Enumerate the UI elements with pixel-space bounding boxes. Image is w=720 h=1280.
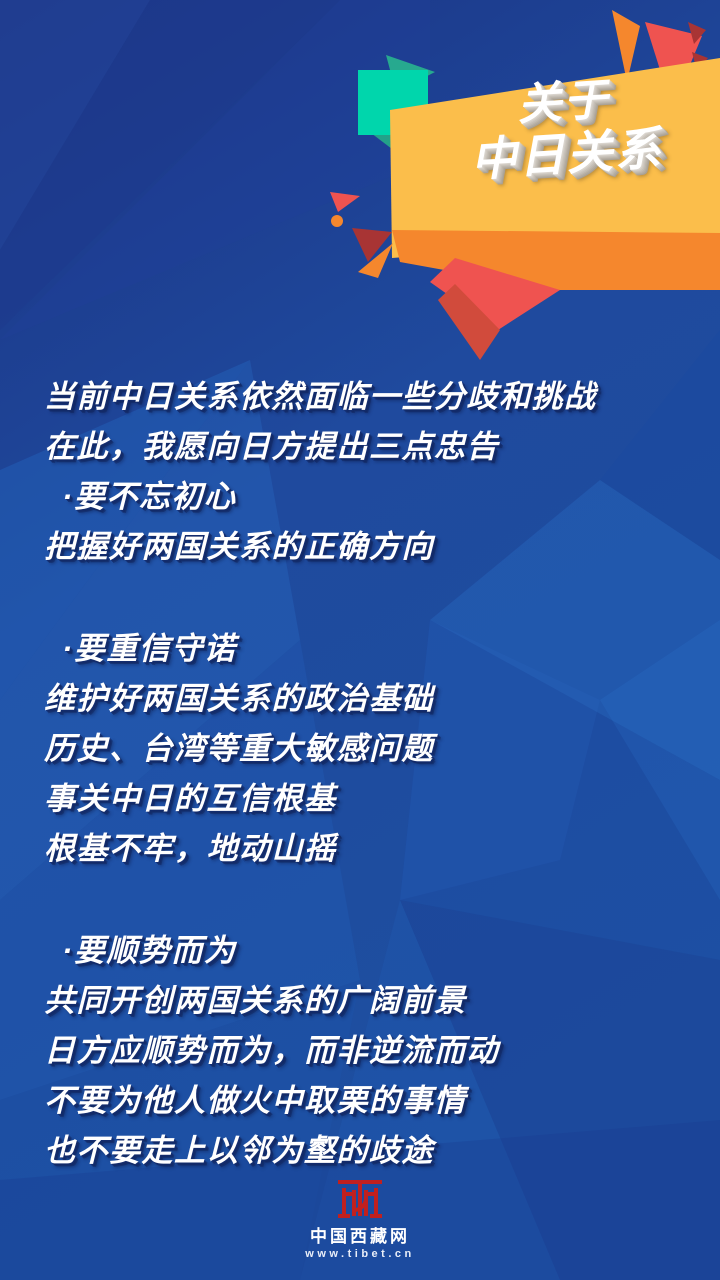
text-line: 把握好两国关系的正确方向	[0, 522, 720, 572]
site-url: www.tibet.cn	[0, 1248, 720, 1260]
text-line: 根基不牢，地动山摇	[0, 824, 720, 874]
banner-title: 关于 中日关系	[427, 70, 703, 190]
text-line: 在此，我愿向日方提出三点忠告	[0, 422, 720, 472]
text-line-bullet: ·要顺势而为	[0, 926, 720, 976]
text-line: 维护好两国关系的政治基础	[0, 674, 720, 724]
text-line: 共同开创两国关系的广阔前景	[0, 976, 720, 1026]
site-name: 中国西藏网	[0, 1226, 720, 1247]
tibet-seal-icon	[332, 1176, 388, 1222]
paragraph-3: ·要顺势而为 共同开创两国关系的广阔前景 日方应顺势而为，而非逆流而动 不要为他…	[0, 926, 720, 1176]
text-line: 当前中日关系依然面临一些分歧和挑战	[0, 372, 720, 422]
text-line-bullet: ·要重信守诺	[0, 624, 720, 674]
footer: 中国西藏网 www.tibet.cn	[0, 1176, 720, 1260]
text-line: 历史、台湾等重大敏感问题	[0, 724, 720, 774]
text-line: 也不要走上以邻为壑的歧途	[0, 1126, 720, 1176]
body-text-block: 当前中日关系依然面临一些分歧和挑战 在此，我愿向日方提出三点忠告 ·要不忘初心 …	[0, 372, 720, 1176]
poster-canvas: 关于 中日关系 当前中日关系依然面临一些分歧和挑战 在此，我愿向日方提出三点忠告…	[0, 0, 720, 1280]
text-line: 不要为他人做火中取栗的事情	[0, 1076, 720, 1126]
paragraph-2: ·要重信守诺 维护好两国关系的政治基础 历史、台湾等重大敏感问题 事关中日的互信…	[0, 624, 720, 874]
text-line: 事关中日的互信根基	[0, 774, 720, 824]
text-line-bullet: ·要不忘初心	[0, 472, 720, 522]
text-line: 日方应顺势而为，而非逆流而动	[0, 1026, 720, 1076]
paragraph-1: 当前中日关系依然面临一些分歧和挑战 在此，我愿向日方提出三点忠告 ·要不忘初心 …	[0, 372, 720, 572]
